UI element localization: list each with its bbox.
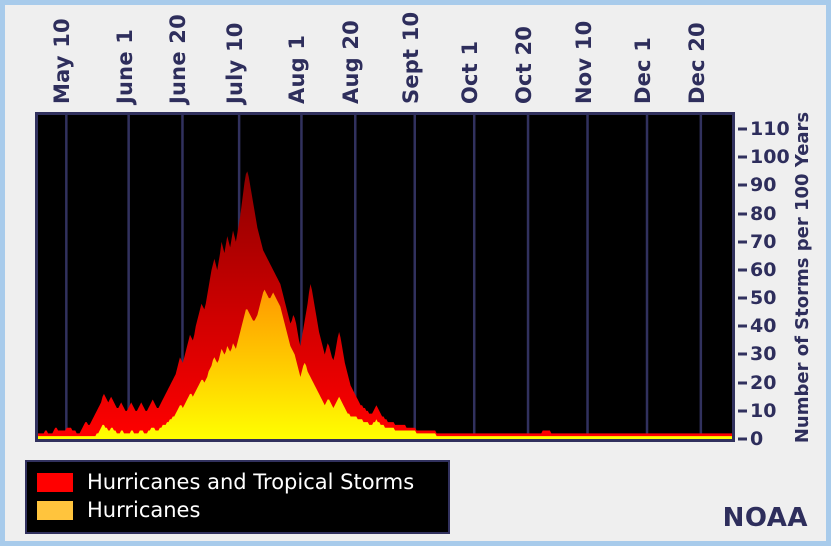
x-axis-tick-label: July 10	[223, 22, 247, 104]
y-axis-title-text: Number of Storms per 100 Years	[793, 111, 814, 442]
y-axis-tick-mark	[738, 325, 747, 328]
y-axis-tick-label: 110	[750, 118, 790, 140]
y-axis-tick-label: 90	[750, 174, 776, 196]
y-axis-tick-label: 100	[750, 146, 790, 168]
chart-page: May 10June 1June 20July 10Aug 1Aug 20Sep…	[0, 0, 831, 546]
y-axis-tick-mark	[738, 184, 747, 187]
y-axis-tick-mark	[738, 409, 747, 412]
y-axis-tick-mark	[738, 240, 747, 243]
noaa-logo: NOAA	[723, 503, 808, 533]
x-axis-labels: May 10June 1June 20July 10Aug 1Aug 20Sep…	[5, 5, 831, 112]
x-axis-tick-label: Dec 20	[685, 22, 709, 104]
y-axis-tick-mark	[738, 268, 747, 271]
x-axis-tick-label: Sept 10	[399, 12, 423, 104]
y-axis-tick-label: 20	[750, 372, 776, 394]
legend-item: Hurricanes and Tropical Storms	[37, 468, 438, 496]
area-chart-svg	[38, 115, 732, 439]
x-axis-tick-label: June 1	[113, 29, 137, 104]
y-axis-tick-mark	[738, 353, 747, 356]
y-axis-tick-label: 40	[750, 315, 776, 337]
y-axis-tick-mark	[738, 381, 747, 384]
x-axis-tick-label: May 10	[50, 18, 74, 104]
series-area-hurricanes-and-tropical-storms	[38, 171, 732, 439]
y-axis-tick-mark	[738, 156, 747, 159]
x-axis-tick-label: Oct 20	[512, 26, 536, 104]
x-gridlines	[66, 115, 701, 439]
x-axis-tick-label: Aug 20	[339, 20, 363, 104]
x-axis-tick-label: Aug 1	[285, 35, 309, 104]
y-axis-tick-mark	[738, 297, 747, 300]
y-axis: 0102030405060708090100110	[738, 112, 778, 442]
y-axis-title: Number of Storms per 100 Years	[785, 112, 821, 442]
y-axis-tick-label: 70	[750, 231, 776, 253]
red-swatch	[37, 473, 73, 492]
x-axis-tick-label: Dec 1	[631, 37, 655, 104]
y-axis-tick-mark	[738, 212, 747, 215]
legend-item-label: Hurricanes and Tropical Storms	[87, 470, 414, 494]
y-axis-tick-label: 30	[750, 343, 776, 365]
legend-item: Hurricanes	[37, 496, 438, 524]
plot-area	[35, 112, 735, 442]
y-axis-tick-mark	[738, 128, 747, 131]
y-axis-tick-mark	[738, 438, 747, 441]
x-axis-tick-label: Nov 10	[572, 21, 596, 104]
yellow-swatch	[37, 501, 73, 520]
y-axis-tick-label: 80	[750, 203, 776, 225]
x-axis-tick-label: June 20	[166, 14, 190, 104]
y-axis-tick-label: 50	[750, 287, 776, 309]
x-axis-tick-label: Oct 1	[458, 41, 482, 104]
y-axis-tick-label: 0	[750, 428, 763, 450]
chart-legend: Hurricanes and Tropical StormsHurricanes	[25, 460, 450, 534]
y-axis-tick-label: 60	[750, 259, 776, 281]
plot-area-wrapper	[35, 112, 735, 442]
y-axis-tick-label: 10	[750, 400, 776, 422]
legend-item-label: Hurricanes	[87, 498, 200, 522]
